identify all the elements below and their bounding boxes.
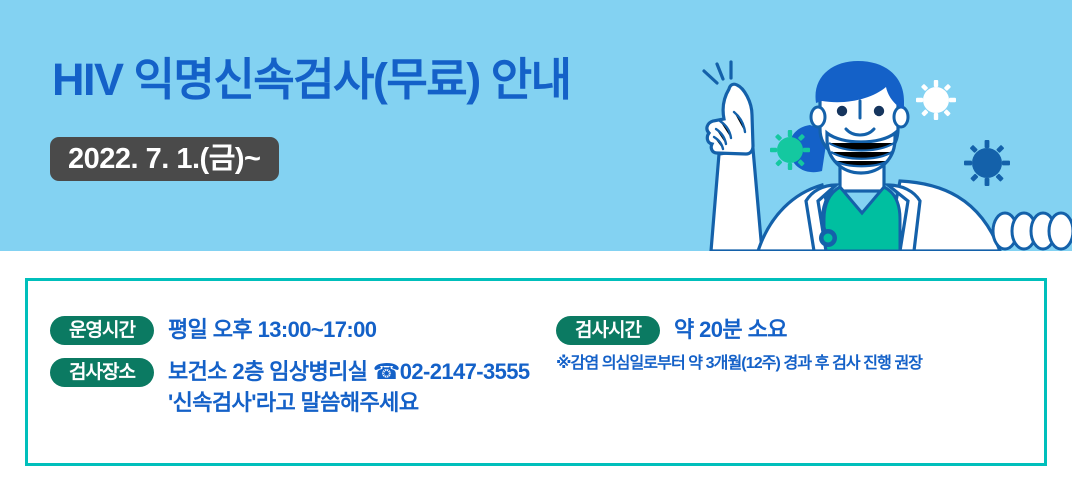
doctor-eye-left xyxy=(837,106,847,116)
doctor-ear-right xyxy=(894,107,908,127)
badge-test-duration: 검사시간 xyxy=(556,316,660,345)
info-note: ※감염 의심일로부터 약 3개월(12주) 경과 후 검사 진행 권장 xyxy=(556,356,922,372)
doctor-illustration-svg xyxy=(690,55,1072,251)
info-row-test-duration: 검사시간 약 20분 소요 xyxy=(556,314,922,345)
info-column-left: 운영시간 평일 오후 13:00~17:00 검사장소 보건소 2층 임상병리실… xyxy=(50,314,530,430)
badge-test-location-label: 검사장소 xyxy=(69,363,135,382)
test-duration-value: 약 20분 소요 xyxy=(674,314,787,345)
test-location-line-2: '신속검사'라고 말씀해주세요 xyxy=(168,387,530,418)
test-location-value: 보건소 2층 임상병리실 ☎02-2147-3555 '신속검사'라고 말씀해주… xyxy=(168,356,530,418)
start-date-badge: 2022. 7. 1.(금)~ xyxy=(50,137,279,181)
info-column-right: 검사시간 약 20분 소요 ※감염 의심일로부터 약 3개월(12주) 경과 후… xyxy=(556,314,922,372)
mask-pleat-lines xyxy=(829,143,894,166)
virus-green-icon xyxy=(770,130,810,170)
doctor-illustration xyxy=(690,55,1072,251)
virus-blue-icon xyxy=(964,140,1010,186)
badge-operating-hours: 운영시간 xyxy=(50,316,154,345)
doctor-ear-left xyxy=(811,107,825,127)
badge-test-location: 검사장소 xyxy=(50,358,154,387)
badge-test-duration-label: 검사시간 xyxy=(575,321,641,340)
info-row-test-location: 검사장소 보건소 2층 임상병리실 ☎02-2147-3555 '신속검사'라고… xyxy=(50,356,530,418)
resting-hand-icon xyxy=(993,213,1072,249)
hiv-test-announcement-banner: HIV 익명신속검사(무료) 안내 2022. 7. 1.(금)~ xyxy=(0,0,1072,490)
start-date-badge-label: 2022. 7. 1.(금)~ xyxy=(68,145,261,174)
stethoscope-head-inner xyxy=(824,234,833,243)
operating-hours-value: 평일 오후 13:00~17:00 xyxy=(168,314,376,345)
test-location-line-1: 보건소 2층 임상병리실 ☎02-2147-3555 xyxy=(168,356,530,387)
banner-header: HIV 익명신속검사(무료) 안내 2022. 7. 1.(금)~ xyxy=(0,0,1072,251)
badge-operating-hours-label: 운영시간 xyxy=(69,321,135,340)
virus-white-icon xyxy=(916,80,956,120)
doctor-raised-sleeve xyxy=(711,149,762,251)
operating-hours-line-1: 평일 오후 13:00~17:00 xyxy=(168,314,376,345)
info-box: 운영시간 평일 오후 13:00~17:00 검사장소 보건소 2층 임상병리실… xyxy=(25,278,1047,466)
doctor-eye-right xyxy=(874,106,884,116)
page-title: HIV 익명신속검사(무료) 안내 xyxy=(52,57,571,102)
pointing-hand-icon xyxy=(707,84,753,154)
emphasis-lines-icon xyxy=(704,62,731,83)
info-row-operating-hours: 운영시간 평일 오후 13:00~17:00 xyxy=(50,314,530,345)
test-duration-line-1: 약 20분 소요 xyxy=(674,314,787,345)
